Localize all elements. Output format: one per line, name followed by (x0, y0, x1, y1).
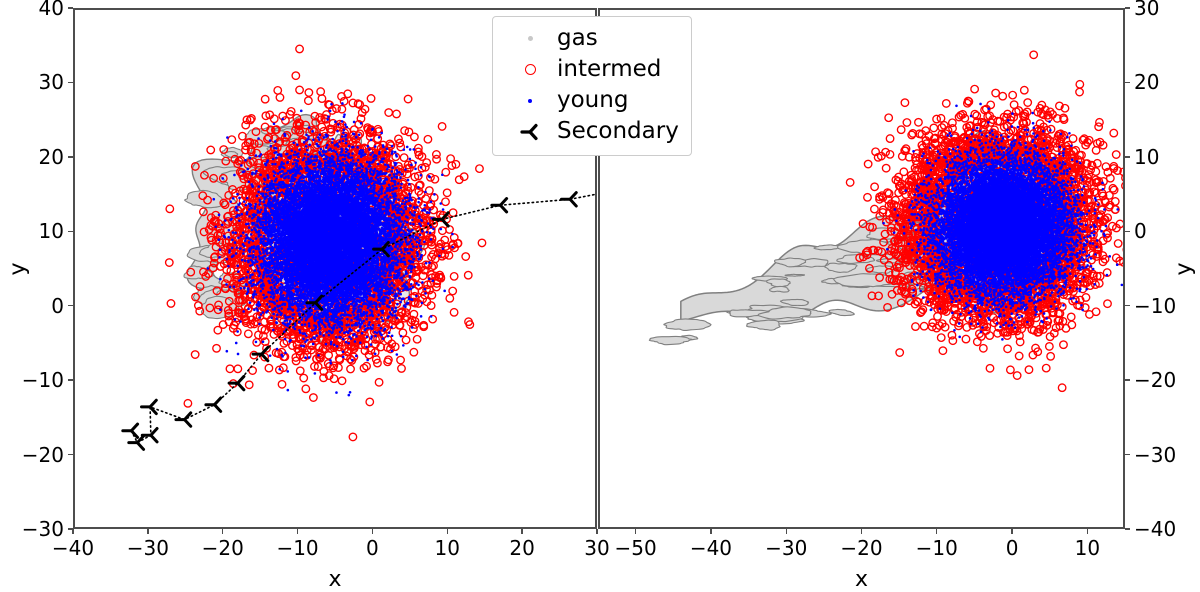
left-panel-ytick (68, 454, 73, 455)
right-panel-spine-right (1123, 8, 1125, 529)
left-panel-spine-left (73, 8, 75, 529)
figure-canvas: −40−30−20−100102030−30−20−10010203040xy−… (0, 0, 1200, 584)
right-panel-xticklabel: −50 (615, 538, 657, 558)
right-panel-yticklabel: −40 (1134, 519, 1176, 539)
left-panel-xticklabel: −10 (276, 538, 318, 558)
open-circle-marker-icon (503, 64, 557, 75)
small-dot-marker-icon (503, 99, 557, 103)
left-panel-ytick (68, 231, 73, 232)
right-panel-xtick (635, 529, 636, 534)
right-panel-xlabel: x (855, 567, 868, 592)
left-panel-xtick (447, 529, 448, 534)
gas-dot-marker-icon (503, 36, 557, 41)
right-panel-xtick (786, 529, 787, 534)
right-panel-xtick (1011, 529, 1012, 534)
right-panel-xticklabel: −40 (690, 538, 732, 558)
left-panel-yticklabel: −30 (22, 519, 64, 539)
right-panel-xticklabel: −20 (840, 538, 882, 558)
right-panel-ytick (1125, 305, 1130, 306)
left-panel-spine-bottom (73, 527, 597, 529)
left-panel-xticklabel: 0 (366, 538, 379, 558)
right-panel-yticklabel: −10 (1134, 296, 1176, 316)
left-panel-xticklabel: −30 (127, 538, 169, 558)
right-panel-xticklabel: −30 (765, 538, 807, 558)
left-panel-yticklabel: 10 (39, 221, 64, 241)
legend-entry-gas: gas (503, 23, 679, 54)
left-panel-xtick (297, 529, 298, 534)
left-panel-yticklabel: 20 (39, 147, 64, 167)
left-panel-ytick (68, 305, 73, 306)
right-panel-ytick (1125, 528, 1130, 529)
right-panel-ytick (1125, 231, 1130, 232)
legend-label-intermed: intermed (557, 58, 661, 81)
left-panel-xtick (147, 529, 148, 534)
left-panel-xlabel: x (328, 567, 341, 592)
right-panel-xtick (861, 529, 862, 534)
left-panel-xticklabel: 20 (509, 538, 534, 558)
right-panel-xtick (710, 529, 711, 534)
left-panel-yticklabel: −10 (22, 370, 64, 390)
right-panel-ytick (1125, 156, 1130, 157)
right-panel-xticklabel: 0 (1006, 538, 1019, 558)
tri-left-marker-icon (503, 121, 557, 143)
left-panel-ytick (68, 82, 73, 83)
right-panel-ytick (1125, 379, 1130, 380)
right-panel-ylabel: y (1172, 262, 1197, 275)
right-panel-xtick (1087, 529, 1088, 534)
left-panel-ytick (68, 7, 73, 8)
left-panel-ytick (68, 156, 73, 157)
right-panel-yticklabel: 10 (1134, 147, 1159, 167)
left-panel-ytick (68, 379, 73, 380)
right-panel-spine-top (598, 8, 1125, 10)
legend-label-gas: gas (557, 27, 598, 50)
right-panel-yticklabel: 0 (1134, 221, 1147, 241)
right-panel-yticklabel: 30 (1134, 0, 1159, 18)
right-panel-yticklabel: 20 (1134, 72, 1159, 92)
left-panel-xticklabel: 10 (435, 538, 460, 558)
legend-box: gas intermed young Secondary (492, 16, 692, 156)
left-panel-xtick (521, 529, 522, 534)
left-panel-spine-top (73, 8, 597, 10)
left-panel-xticklabel: 30 (584, 538, 609, 558)
left-panel-xticklabel: −20 (202, 538, 244, 558)
left-panel-yticklabel: 0 (51, 296, 64, 316)
right-panel-ytick (1125, 7, 1130, 8)
legend-label-young: young (557, 89, 628, 112)
left-panel-yticklabel: −20 (22, 445, 64, 465)
left-panel-yticklabel: 40 (39, 0, 64, 18)
left-panel-yticklabel: 30 (39, 72, 64, 92)
right-panel-xtick (936, 529, 937, 534)
left-panel-xtick (372, 529, 373, 534)
left-panel-xtick (222, 529, 223, 534)
right-panel-xticklabel: −10 (916, 538, 958, 558)
left-panel-ytick (68, 528, 73, 529)
right-panel-yticklabel: −30 (1134, 445, 1176, 465)
right-panel-yticklabel: −20 (1134, 370, 1176, 390)
legend-entry-young: young (503, 85, 679, 116)
legend-entry-secondary: Secondary (503, 116, 679, 147)
left-panel-xtick (72, 529, 73, 534)
right-panel-ytick (1125, 82, 1130, 83)
left-panel-xtick (596, 529, 597, 534)
right-panel-ytick (1125, 454, 1130, 455)
legend-label-secondary: Secondary (557, 120, 679, 143)
right-panel-xticklabel: 10 (1075, 538, 1100, 558)
left-panel-ylabel: y (6, 262, 31, 275)
left-panel-xticklabel: −40 (52, 538, 94, 558)
legend-entry-intermed: intermed (503, 54, 679, 85)
